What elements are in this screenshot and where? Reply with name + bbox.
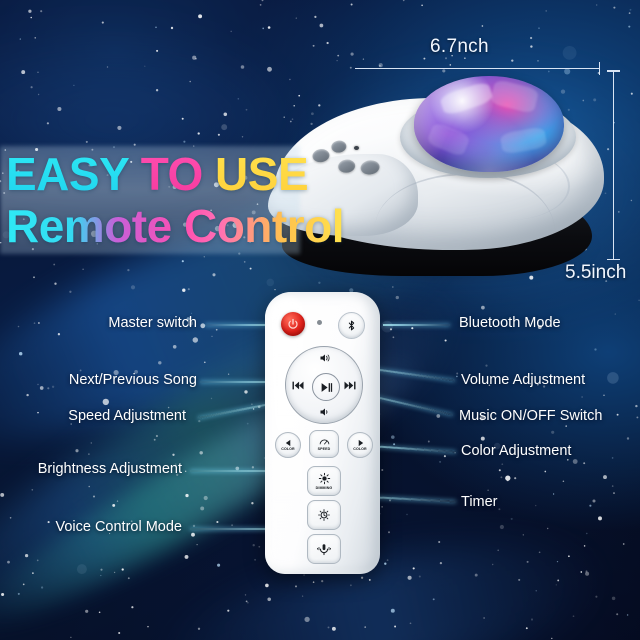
timer-button[interactable]: [307, 500, 341, 530]
left-arrow-icon: [284, 439, 293, 447]
power-icon: [287, 318, 299, 330]
led-indicator: [317, 320, 322, 325]
callout-brightness-adjustment: Brightness Adjustment: [38, 461, 182, 477]
headline-line-1: EASY TO USE: [6, 148, 306, 200]
remote-control: COLOR SPEED COLOR: [265, 292, 380, 574]
callout-timer: Timer: [461, 494, 498, 510]
callout-music-onoff-switch: Music ON/OFF Switch: [459, 408, 602, 424]
next-track-icon: [343, 380, 357, 391]
callout-color-adjustment: Color Adjustment: [461, 443, 571, 459]
callout-next-previous-song: Next/Previous Song: [69, 372, 197, 388]
play-pause-icon: [320, 382, 333, 393]
speed-button[interactable]: SPEED: [309, 430, 339, 458]
next-track-button[interactable]: [341, 378, 359, 392]
volume-down-icon: [318, 406, 331, 418]
volume-up-icon: [318, 352, 331, 364]
headline: EASY TO USE Remote Control: [6, 148, 306, 252]
sun-icon: [318, 472, 331, 485]
speed-gauge-icon: [319, 437, 330, 446]
headline-word-control: Control: [184, 200, 344, 252]
microphone-icon: [317, 543, 331, 556]
color-next-label: COLOR: [353, 447, 366, 451]
timer-icon: [317, 508, 331, 522]
callout-speed-adjustment: Speed Adjustment: [68, 408, 186, 424]
dome-glass-reflection: [414, 76, 564, 172]
previous-track-icon: [291, 380, 305, 391]
star-projector-device: [268, 62, 620, 292]
voice-button[interactable]: [307, 534, 341, 564]
bluetooth-icon: [345, 319, 358, 332]
headline-word-to: TO: [141, 148, 215, 200]
dimming-button[interactable]: DIMMING: [307, 466, 341, 496]
leader-line-bluetooth-mode: [383, 324, 450, 326]
color-next-button[interactable]: COLOR: [347, 432, 373, 458]
headline-word-easy: EASY: [6, 148, 141, 200]
power-button[interactable]: [281, 312, 305, 336]
remote-gloss: [271, 298, 305, 562]
callout-master-switch: Master switch: [108, 315, 197, 331]
headline-word-remote: Remote: [6, 200, 184, 252]
width-dimension-label: 6.7nch: [430, 36, 489, 58]
headline-word-use: USE: [215, 148, 308, 200]
color-prev-button[interactable]: COLOR: [275, 432, 301, 458]
dimming-label: DIMMING: [316, 486, 333, 490]
callout-voice-control-mode: Voice Control Mode: [55, 519, 182, 535]
directional-pad[interactable]: [285, 346, 363, 424]
galaxy-projection-dome: [414, 76, 564, 172]
volume-up-button[interactable]: [315, 351, 333, 365]
callout-volume-adjustment: Volume Adjustment: [461, 372, 585, 388]
device-led-indicator: [354, 146, 359, 150]
play-pause-button[interactable]: [312, 373, 340, 401]
bluetooth-button[interactable]: [338, 312, 365, 339]
previous-track-button[interactable]: [289, 378, 307, 392]
volume-down-button[interactable]: [315, 405, 333, 419]
speed-label: SPEED: [318, 447, 331, 451]
product-infographic: 6.7nch 5.5inch EASY TO USE: [0, 0, 640, 640]
color-prev-label: COLOR: [281, 447, 294, 451]
callout-bluetooth-mode: Bluetooth Mode: [459, 315, 561, 331]
headline-line-2: Remote Control: [6, 200, 306, 252]
right-arrow-icon: [356, 439, 365, 447]
